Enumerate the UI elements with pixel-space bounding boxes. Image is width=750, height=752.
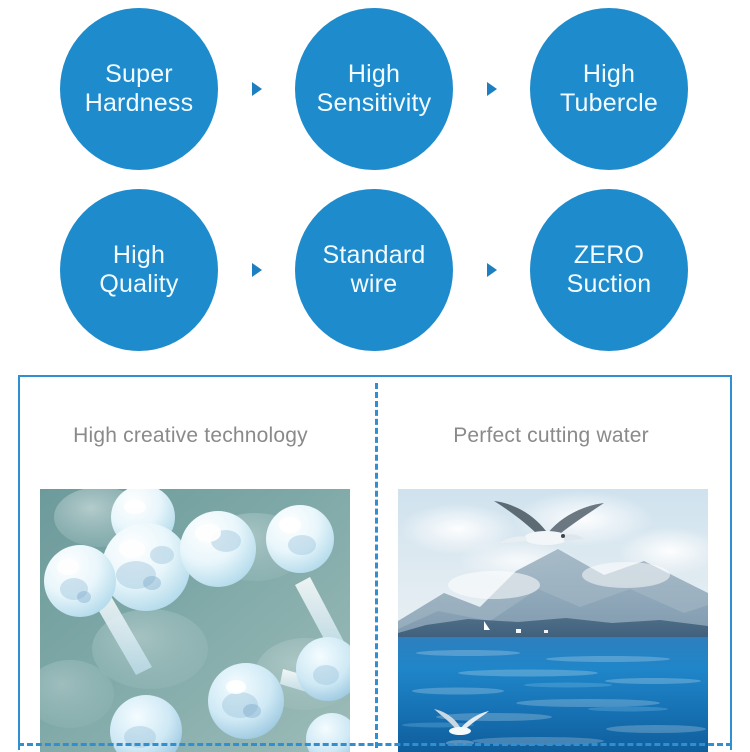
triangle-right-icon: [487, 263, 497, 277]
showcase-column-right: Perfect cutting water: [378, 377, 732, 750]
triangle-right-icon: [252, 82, 262, 96]
triangle-right-icon: [252, 263, 262, 277]
showcase-panel: High creative technology: [18, 375, 732, 750]
showcase-caption-right: Perfect cutting water: [378, 424, 732, 448]
feature-flow-diagram: Super Hardness High Sensitivity High Tub…: [0, 0, 750, 370]
flow-node-high-sensitivity[interactable]: High Sensitivity: [295, 8, 453, 170]
flow-node-standard-wire[interactable]: Standard wire: [295, 189, 453, 351]
flow-node-label: ZERO Suction: [563, 241, 656, 300]
flow-node-super-hardness[interactable]: Super Hardness: [60, 8, 218, 170]
molecule-illustration: [40, 489, 350, 752]
panel-bottom-dashed-edge: [18, 743, 732, 746]
flow-node-label: Standard wire: [318, 241, 429, 300]
flow-node-high-tubercle[interactable]: High Tubercle: [530, 8, 688, 170]
flow-node-label: High Quality: [95, 241, 182, 300]
showcase-column-left: High creative technology: [20, 377, 375, 750]
flow-node-high-quality[interactable]: High Quality: [60, 189, 218, 351]
flow-node-label: Super Hardness: [81, 60, 198, 119]
flow-row: High Quality Standard wire ZERO Suction: [0, 185, 750, 360]
molecule-photo: [40, 489, 350, 752]
flow-node-zero-suction[interactable]: ZERO Suction: [530, 189, 688, 351]
triangle-right-icon: [487, 82, 497, 96]
showcase-caption-left: High creative technology: [20, 424, 375, 448]
seascape-illustration: [398, 489, 708, 752]
flow-node-label: High Tubercle: [556, 60, 662, 119]
seascape-photo: [398, 489, 708, 752]
flow-row: Super Hardness High Sensitivity High Tub…: [0, 4, 750, 179]
flow-node-label: High Sensitivity: [313, 60, 436, 119]
